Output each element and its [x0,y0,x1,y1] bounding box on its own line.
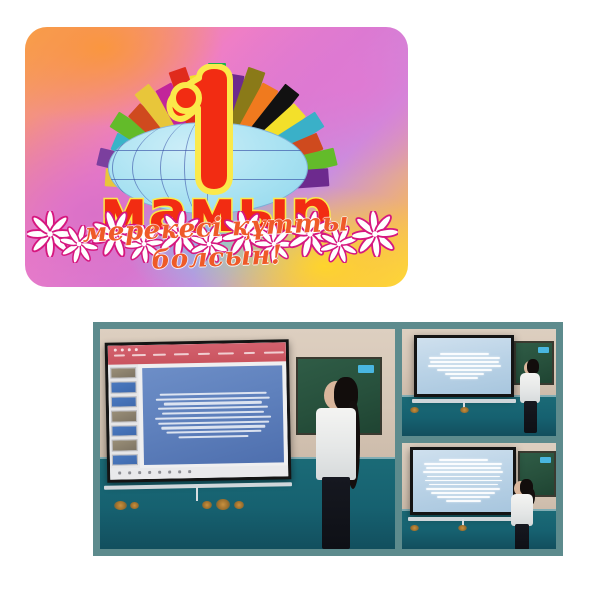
projection-surface [417,338,511,394]
slide-thumbnail[interactable] [111,396,137,408]
slide-thumbnail[interactable] [112,439,138,451]
board-sign [538,347,549,353]
slide-thumbnail[interactable] [110,381,136,393]
wall-ornament [410,525,419,531]
student-presenter [518,359,546,433]
projection-surface [108,342,289,479]
student-presenter [510,479,540,549]
wall-ornament [216,499,230,510]
active-slide [142,365,284,465]
page-root: мамыр мерекесі құтты болсын! [0,0,600,614]
collage-panel-top-right [402,329,556,436]
powerpoint-window [108,342,289,479]
greeting-card-canvas: мамыр мерекесі құтты болсын! [25,27,408,287]
projected-text [417,338,511,394]
powerpoint-ribbon [108,342,286,364]
slide-thumbnail-strip[interactable] [108,364,140,469]
board-sign [540,457,551,463]
wall-ornament [234,501,244,509]
wall-ornament [114,501,127,510]
projected-text [413,450,513,512]
projector-screen-bottom-right [410,447,516,515]
projector-screen-main [105,339,292,483]
wall-ornament [202,501,212,509]
slide-thumbnail[interactable] [110,367,136,379]
powerpoint-body [108,361,288,469]
powerpoint-statusbar [110,466,288,480]
slide-thumbnail[interactable] [111,425,137,437]
greeting-card: мамыр мерекесі құтты болсын! [25,27,408,287]
slide-thumbnail[interactable] [112,454,138,466]
board-sign [358,365,374,373]
collage-right-column [402,329,556,549]
projector-screen-top-right [414,335,514,397]
screen-stand [196,487,198,501]
photo-collage [93,322,563,556]
slide-thumbnail[interactable] [111,410,137,422]
wall-ornament [458,525,467,531]
projection-surface [413,450,513,512]
student-presenter [308,377,370,549]
collage-panel-main [100,329,395,549]
wall-ornament [130,502,139,509]
collage-panel-bottom-right [402,443,556,550]
